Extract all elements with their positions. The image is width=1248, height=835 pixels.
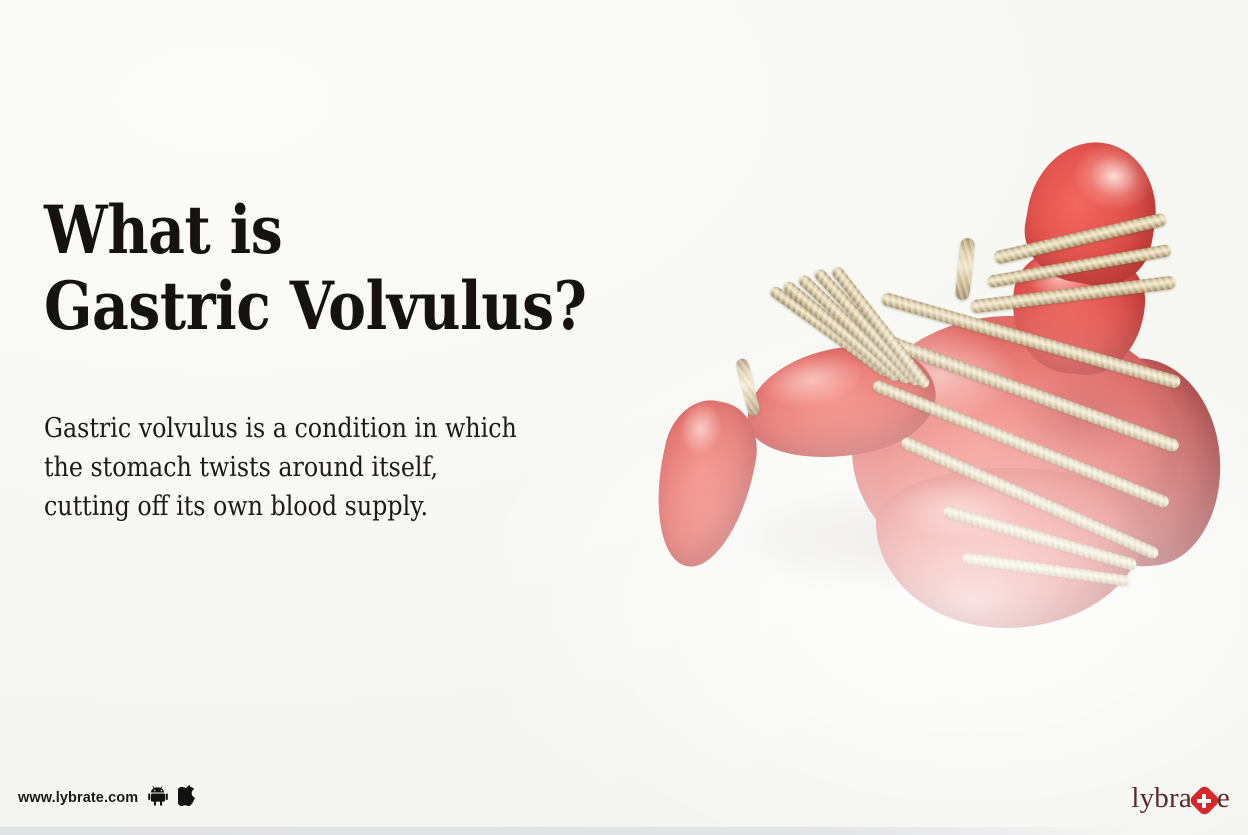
page-title: What is Gastric Volvulus? (44, 192, 612, 344)
logo-text-start: lybra (1131, 784, 1192, 813)
cross-in-diamond-icon (1193, 789, 1216, 812)
description-text: Gastric volvulus is a condition in which… (44, 409, 642, 526)
logo-text-end: e (1217, 784, 1230, 813)
apple-icon[interactable] (178, 785, 196, 811)
lybrate-logo[interactable]: lybra e (1131, 784, 1230, 813)
footer-left-group: www.lybrate.com (18, 785, 196, 811)
rope-bundle-antrum-loop (735, 357, 761, 416)
bottom-divider-bar (0, 827, 1132, 835)
infographic-canvas: What is Gastric Volvulus? Gastric volvul… (0, 0, 1248, 835)
site-url-label[interactable]: www.lybrate.com (18, 790, 138, 806)
rope-wrap-neck-loop (955, 237, 975, 300)
stomach-model-photo (640, 120, 1248, 640)
android-icon[interactable] (148, 785, 168, 811)
